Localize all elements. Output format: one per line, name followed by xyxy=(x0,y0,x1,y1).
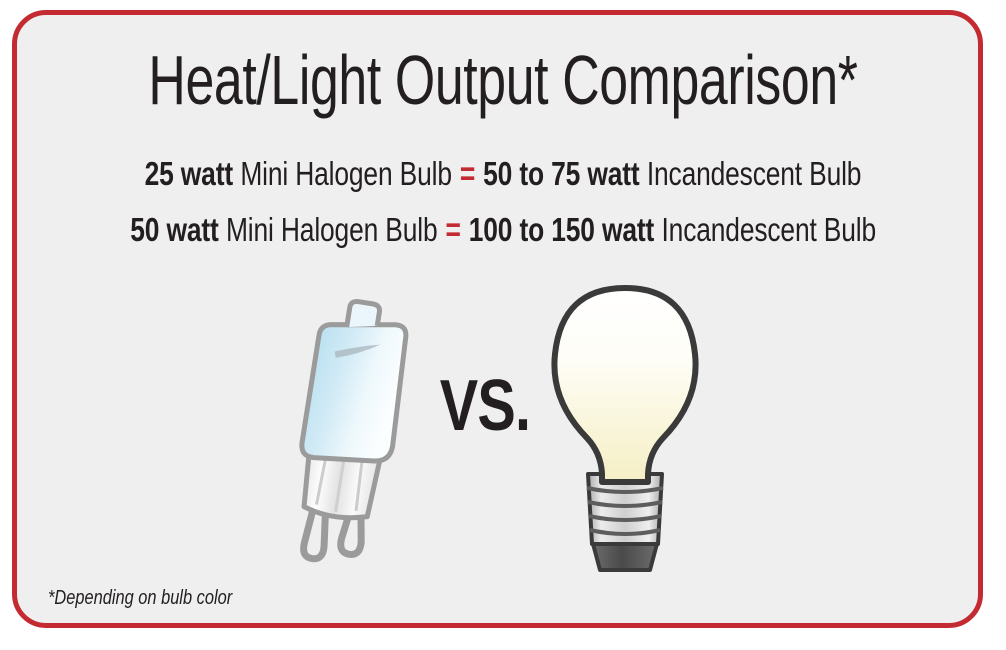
row1-right-wattage: 50 to 75 watt xyxy=(483,155,639,192)
comparison-row-2-inner: 50 watt Mini Halogen Bulb=100 to 150 wat… xyxy=(130,208,876,252)
row2-right-wattage: 100 to 150 watt xyxy=(469,211,654,248)
row2-left-bulb: Mini Halogen Bulb xyxy=(226,211,438,248)
incandescent-bulb-icon xyxy=(530,278,720,588)
comparison-row-2: 50 watt Mini Halogen Bulb=100 to 150 wat… xyxy=(0,208,1006,252)
row2-right-bulb: Incandescent Bulb xyxy=(661,211,876,248)
halogen-glass-capsule xyxy=(300,313,411,469)
row1-equals-sign: = xyxy=(452,155,483,192)
row1-right-bulb: Incandescent Bulb xyxy=(647,155,862,192)
incandescent-glass-globe xyxy=(554,288,695,482)
infographic-root: Heat/Light Output Comparison* 25 watt Mi… xyxy=(0,0,1006,650)
comparison-row-1-inner: 25 watt Mini Halogen Bulb=50 to 75 watt … xyxy=(145,152,862,196)
bulb-illustration-group: VS. xyxy=(0,278,1006,588)
row1-left-bulb: Mini Halogen Bulb xyxy=(240,155,452,192)
page-title: Heat/Light Output Comparison* xyxy=(131,44,875,116)
comparison-row-1: 25 watt Mini Halogen Bulb=50 to 75 watt … xyxy=(0,152,1006,196)
incandescent-bulb-illustration xyxy=(530,278,720,588)
footnote-text: *Depending on bulb color xyxy=(48,586,232,610)
halogen-bulb-illustration xyxy=(258,296,428,586)
halogen-bulb-icon xyxy=(258,296,428,586)
row2-left-wattage: 50 watt xyxy=(130,211,218,248)
row2-equals-sign: = xyxy=(437,211,468,248)
row1-left-wattage: 25 watt xyxy=(145,155,233,192)
comparison-list: 25 watt Mini Halogen Bulb=50 to 75 watt … xyxy=(0,152,1006,252)
